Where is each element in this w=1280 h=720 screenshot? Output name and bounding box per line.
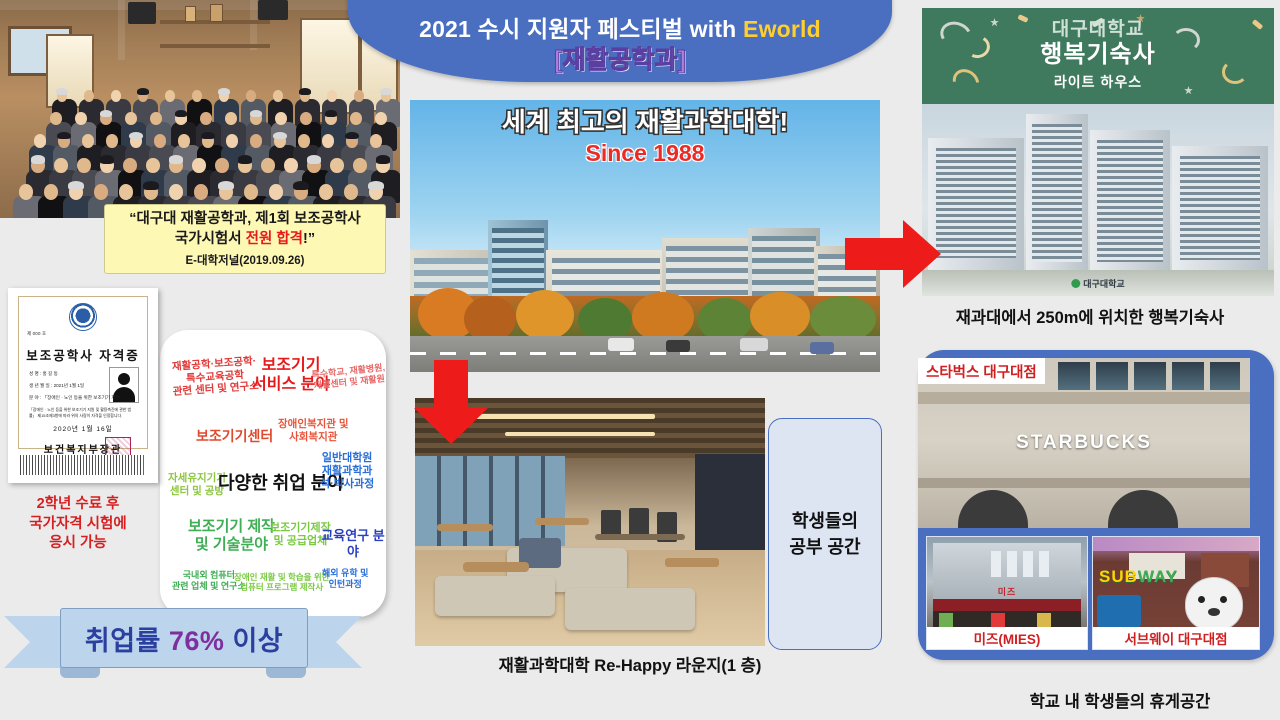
ribbon-body: 취업률 76% 이상 [60, 608, 308, 668]
wordcloud-term: 재활공학·보조공학· 특수교육공학 관련 센터 및 연구소 [171, 355, 259, 399]
subway-label-text: 서브웨이 대구대점 [1124, 628, 1227, 648]
campus-headline-group: 세계 최고의 재활과학대학! Since 1988 [410, 108, 880, 167]
certificate-row-2: 분 야 : 「장애인ㆍ노인 등을 위한 보조기기 지원 [29, 395, 120, 401]
subway-label: 서브웨이 대구대점 [1093, 627, 1259, 649]
news-quote-line2-prefix: 국가시험서 [175, 231, 246, 247]
news-quote-line1: “대구대 재활공학과, 제1회 보조공학사 [129, 210, 361, 229]
dormitory-logo: 대구대학교 [1071, 277, 1124, 290]
group-photo-person-head [54, 158, 67, 173]
group-photo-person-head [94, 184, 108, 200]
red-right-arrow-icon [845, 218, 941, 290]
group-photo-person-head [298, 134, 311, 148]
employment-suffix: 이상 [224, 626, 283, 656]
certificate-number: 제 000 호 [27, 331, 46, 337]
starbucks-label-text: 스타벅스 대구대점 [926, 361, 1037, 382]
group-photo-person-head [169, 184, 183, 200]
slide-title-highlight: Eworld [743, 16, 821, 42]
group-photo-person-head [34, 134, 47, 148]
certificate-date: 2020년 1월 16일 [19, 423, 147, 433]
mies-sign-text: 미즈 [998, 585, 1017, 598]
group-photo-person-head [244, 184, 258, 200]
group-photo-person-head [300, 112, 312, 125]
group-photo-person-cap [325, 110, 338, 117]
group-photo-person-cap [137, 88, 149, 95]
employment-prefix: 취업률 [85, 626, 169, 656]
group-photo-person-head [125, 112, 137, 125]
group-photo-person-cap [100, 155, 115, 163]
dormitory-banner-line3: 라이트 하우스 [922, 72, 1274, 92]
group-photo-person-cap [201, 132, 215, 140]
group-photo-person-cap [307, 155, 322, 163]
group-photo-person-cap [100, 110, 113, 117]
group-photo-person-head [44, 184, 58, 200]
study-space-text: 학생들의 공부 공간 [789, 508, 860, 560]
group-photo-person-head [119, 184, 133, 200]
slide-title-banner: 2021 수시 지원자 페스티벌 with Eworld [재활공학과] [348, 0, 892, 82]
dormitory-logo-icon [1071, 279, 1080, 288]
news-quote-highlight: 전원 합격 [246, 231, 303, 247]
group-photo-person-head [275, 112, 287, 125]
dormitory-banner: 대구대학교 행복기숙사 라이트 하우스 [922, 8, 1274, 104]
group-photo-person-head [75, 112, 87, 125]
group-photo-person-head [178, 134, 191, 148]
dormitory-banner-line2: 행복기숙사 [922, 42, 1274, 68]
employment-rate-text: 취업률 76% 이상 [85, 619, 283, 658]
group-photo-person-head [150, 112, 162, 125]
group-photo-person-cap [218, 88, 230, 95]
group-photo-person-cap [175, 110, 188, 117]
certificate-image: 제 000 호 보조공학사 자격증 성 명 : 홍 길 동 생 년 월 일 : … [8, 288, 158, 483]
news-quote-line2: 국가시험서 전원 합격!” [175, 230, 315, 249]
starbucks-label: 스타벅스 대구대점 [918, 358, 1045, 384]
mies-label-text: 미즈(MIES) [974, 628, 1041, 648]
group-photo-person-cap [376, 155, 391, 163]
group-photo-person-head [146, 158, 159, 173]
group-photo-person-cap [238, 155, 253, 163]
group-photo-person-cap [250, 110, 263, 117]
campus-subline: Since 1988 [410, 140, 880, 168]
certificate-row-0: 성 명 : 홍 길 동 [29, 371, 58, 377]
group-photo-person-head [322, 134, 335, 148]
group-photo-person-cap [380, 88, 392, 95]
subway-mascot-icon [1185, 577, 1243, 631]
dormitory-building-photo: 대구대학교 [922, 104, 1274, 296]
group-photo-person-head [19, 184, 33, 200]
certificate-body: 「장애인ㆍ노인 등을 위한 보조기기 지원 및 활용촉진에 관한 법률」 제15… [29, 407, 137, 419]
subway-sign-way: WAY [1138, 567, 1178, 586]
certificate-barcode [20, 455, 146, 475]
news-quote-callout: “대구대 재활공학과, 제1회 보조공학사 국가시험서 전원 합격!” E-대학… [104, 204, 386, 274]
group-photo [0, 0, 400, 218]
slide-title-line1: 2021 수시 지원자 페스티벌 with Eworld [419, 16, 821, 44]
lounge-caption: 재활과학대학 Re-Happy 라운지(1 층) [420, 652, 840, 676]
certificate-row-1: 생 년 월 일 : 2021년 1월 1일 [29, 383, 84, 389]
group-photo-person-head [225, 112, 237, 125]
group-photo-person-cap [368, 181, 384, 190]
group-photo-person-cap [57, 132, 71, 140]
wordcloud-term: 일반대학원 재활과학과 석·박사과정 [320, 452, 374, 492]
group-photo-person-cap [169, 155, 184, 163]
group-photo-person-head [353, 158, 366, 173]
group-photo-person-head [250, 134, 263, 148]
group-photo-person-cap [143, 181, 159, 190]
certificate-caption: 2학년 수료 후 국가자격 시험에 응시 가능 [4, 495, 152, 554]
group-photo-person-head [50, 112, 62, 125]
subway-sign-text: SUBWAY [1099, 567, 1178, 587]
amenities-caption: 학교 내 학생들의 휴게공간 [960, 688, 1280, 712]
group-photo-person-head [269, 184, 283, 200]
group-photo-person-head [200, 112, 212, 125]
news-quote-line2-suffix: !” [303, 231, 315, 247]
wordcloud-term: 보조기기센터 [196, 428, 273, 445]
wordcloud-term: 장애인 재활 및 학습을 위한 컴퓨터 프로그램 제작사 [234, 572, 329, 592]
group-photo-person-head [375, 112, 387, 125]
group-photo-person-head [82, 134, 95, 148]
group-photo-person-cap [56, 88, 68, 95]
group-photo-person-head [154, 134, 167, 148]
group-photo-person-cap [345, 132, 359, 140]
group-photo-person-cap [299, 88, 311, 95]
employment-number: 76% [169, 626, 225, 656]
dormitory-banner-line1: 대구대학교 [922, 20, 1274, 41]
government-emblem-icon [69, 303, 97, 331]
group-photo-person-cap [129, 132, 143, 140]
employment-rate-ribbon: 취업률 76% 이상 [4, 606, 362, 678]
slide-title-prefix: 2021 수시 지원자 페스티벌 with [419, 16, 743, 42]
dormitory-caption: 재과대에서 250m에 위치한 행복기숙사 [900, 304, 1280, 328]
group-photo-person-head [261, 158, 274, 173]
group-photo-person-head [319, 184, 333, 200]
mies-photo: 미즈 미즈(MIES) [926, 536, 1088, 650]
slide-title-line2: [재활공학과] [554, 45, 686, 76]
group-photo-person-head [284, 158, 297, 173]
group-photo-person-head [215, 158, 228, 173]
certificate-title: 보조공학사 자격증 [19, 345, 147, 364]
group-photo-person-head [330, 158, 343, 173]
campus-headline: 세계 최고의 재활과학대학! [410, 108, 880, 138]
group-photo-person-head [350, 112, 362, 125]
wordcloud-term: 보조기기 제작 및 기술분야 [188, 518, 275, 554]
group-photo-person-head [194, 184, 208, 200]
subway-photo: SUBWAY 서브웨이 대구대점 [1092, 536, 1260, 650]
group-photo-person-cap [293, 181, 309, 190]
group-photo-person-cap [218, 181, 234, 190]
red-down-arrow-icon [412, 360, 490, 444]
group-photo-person-head [77, 158, 90, 173]
dormitory-logo-text: 대구대학교 [1083, 279, 1124, 289]
starbucks-sign-text: STARBUCKS [1016, 432, 1152, 454]
slide-canvas: “대구대 재활공학과, 제1회 보조공학사 국가시험서 전원 합격!” E-대학… [0, 0, 1280, 720]
wordcloud-term: 해외 유학 및 인턴과정 [322, 568, 368, 590]
group-photo-person-head [370, 134, 383, 148]
group-photo-person-head [123, 158, 136, 173]
wordcloud-term: 장애인복지관 및 사회복지관 [278, 418, 349, 443]
group-photo-person-head [226, 134, 239, 148]
group-photo-person-head [106, 134, 119, 148]
wordcloud-term: 교육연구 분야 [320, 528, 386, 559]
group-photo-person-head [344, 184, 358, 200]
group-photo-person-head [192, 158, 205, 173]
group-photo-person-cap [273, 132, 287, 140]
career-wordcloud: 재활공학·보조공학· 특수교육공학 관련 센터 및 연구소보조기기 서비스 분야… [160, 330, 386, 617]
group-photo-person-cap [31, 155, 46, 163]
dormitory-photo: 대구대학교 행복기숙사 라이트 하우스 대구대학교 [922, 8, 1274, 296]
news-quote-source: E-대학저널(2019.09.26) [185, 252, 304, 268]
subway-sign-sub: SUB [1099, 567, 1138, 586]
group-photo-person-cap [68, 181, 84, 190]
mies-label: 미즈(MIES) [927, 627, 1087, 649]
study-space-callout: 학생들의 공부 공간 [768, 418, 882, 650]
campus-photo: 세계 최고의 재활과학대학! Since 1988 [410, 100, 880, 372]
amenities-panel: STARBUCKS 스타벅스 대구대점 미즈 미즈(MIES) SUBWAY 서… [918, 350, 1274, 660]
